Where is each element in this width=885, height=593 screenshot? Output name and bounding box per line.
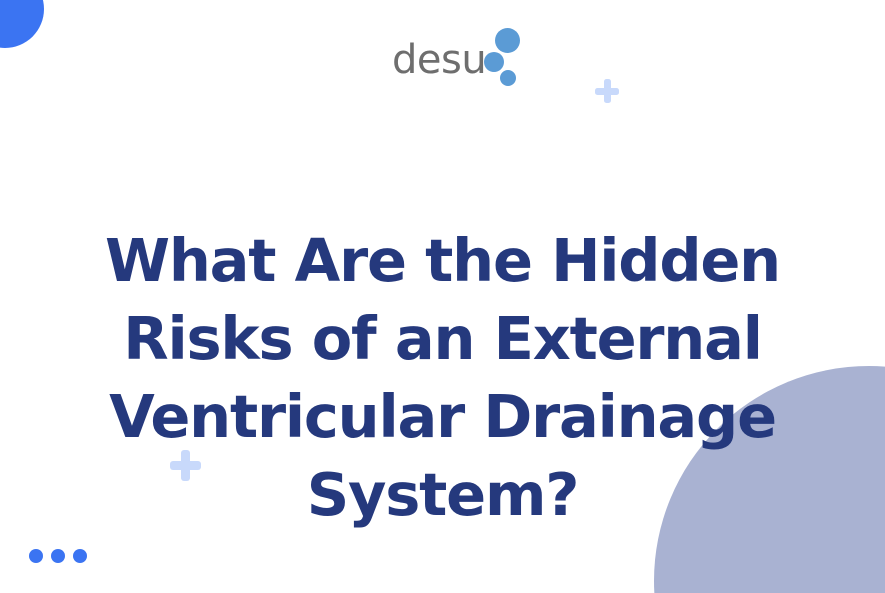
dot-icon <box>73 549 87 563</box>
plus-icon-top-right <box>595 79 619 103</box>
logo-circle-medium-icon <box>484 52 504 72</box>
brand-logo: desu <box>392 26 521 88</box>
logo-circle-large-icon <box>495 28 520 53</box>
brand-logo-mark <box>483 26 521 88</box>
logo-circle-small-icon <box>500 70 516 86</box>
title-slide: desu What Are the Hidden Risks of an Ext… <box>0 0 885 593</box>
plus-bar-vertical <box>604 79 611 103</box>
dot-icon <box>29 549 43 563</box>
decorative-circle-top-left <box>0 0 44 48</box>
page-title: What Are the Hidden Risks of an External… <box>0 222 885 534</box>
decorative-dots <box>29 549 87 563</box>
dot-icon <box>51 549 65 563</box>
brand-logo-text: desu <box>392 40 486 80</box>
